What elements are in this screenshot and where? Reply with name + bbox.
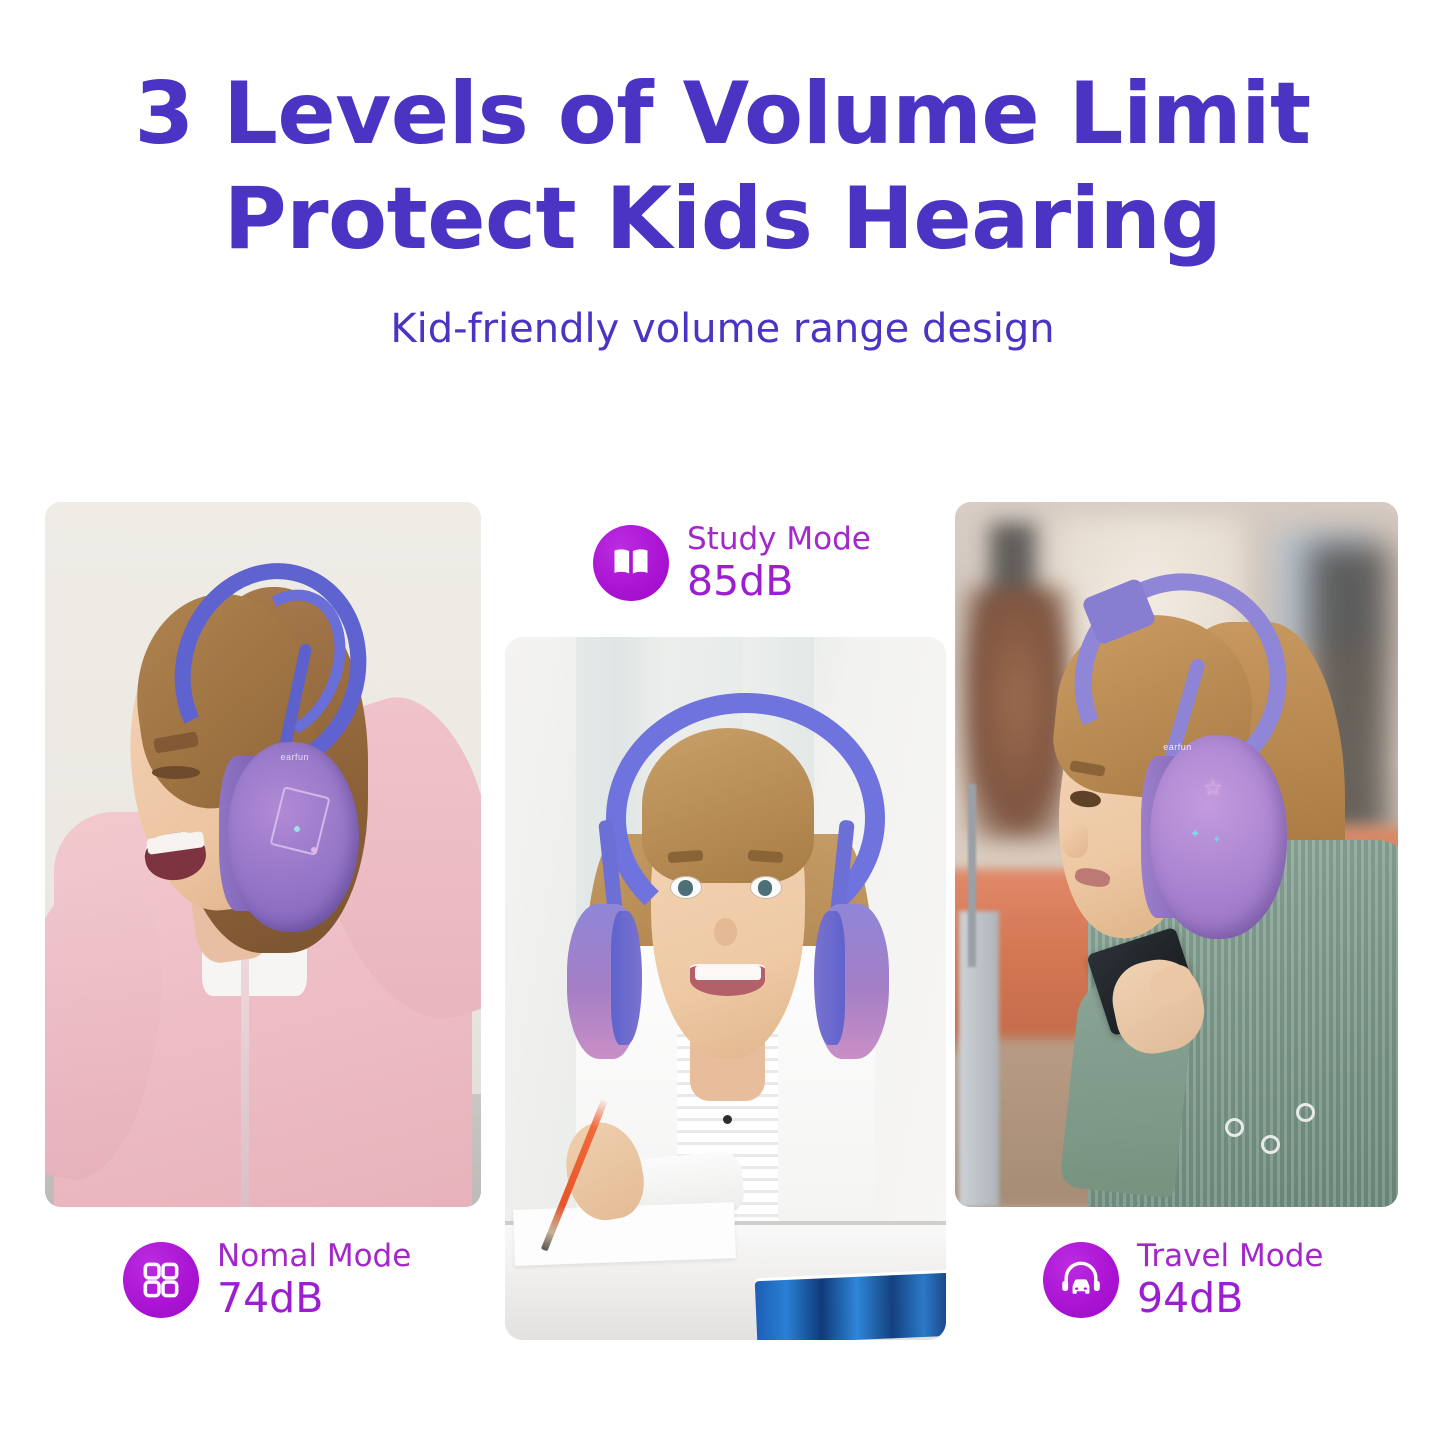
mode-badge-text: Nomal Mode 74dB — [217, 1240, 411, 1320]
headphone-earpad-left — [611, 911, 642, 1045]
mode-value: 74dB — [217, 1277, 411, 1320]
car-headphones-icon — [1043, 1242, 1119, 1318]
page-title: 3 Levels of Volume Limit Protect Kids He… — [0, 62, 1445, 272]
photo-study-mode — [505, 637, 946, 1340]
headline-block: 3 Levels of Volume Limit Protect Kids He… — [0, 62, 1445, 352]
mode-badge-normal: Nomal Mode 74dB — [123, 1240, 411, 1320]
mode-badge-study: Study Mode 85dB — [593, 523, 871, 603]
mode-badge-text: Travel Mode 94dB — [1137, 1240, 1323, 1320]
brand-logo-text: earfun — [1163, 742, 1192, 752]
mode-value: 85dB — [687, 560, 871, 603]
headline-line-2: Protect Kids Hearing — [0, 167, 1445, 272]
sweater-eyelet — [1225, 1118, 1244, 1137]
sweater-eyelet — [1261, 1135, 1280, 1154]
open-book-icon — [593, 525, 669, 601]
mode-title: Study Mode — [687, 523, 871, 556]
product-feature-poster: 3 Levels of Volume Limit Protect Kids He… — [0, 0, 1445, 1445]
photo-normal-mode: earfun — [45, 502, 481, 1207]
headline-line-1: 3 Levels of Volume Limit — [0, 62, 1445, 167]
earcup-star-graphic: ☆ — [1203, 777, 1223, 799]
mode-value: 94dB — [1137, 1277, 1323, 1320]
photo-travel-mode: ☆ ✦ ✦ earfun — [955, 502, 1398, 1207]
headphone-earpad-right — [814, 911, 845, 1045]
luggage-handle — [968, 784, 976, 967]
scene-girl-singing: earfun — [45, 502, 481, 1207]
mode-badge-travel: Travel Mode 94dB — [1043, 1240, 1323, 1320]
earcup-star-small: ✦ — [1190, 826, 1201, 842]
scene-girl-traveling: ☆ ✦ ✦ earfun — [955, 502, 1398, 1207]
mode-title: Nomal Mode — [217, 1240, 411, 1273]
earcup-star-small: ✦ — [1212, 833, 1221, 846]
nose — [1061, 823, 1088, 858]
grid-four-squares-icon — [123, 1242, 199, 1318]
blue-book — [755, 1273, 946, 1340]
scene-girl-studying — [505, 637, 946, 1340]
mode-title: Travel Mode — [1137, 1240, 1323, 1273]
mode-badge-text: Study Mode 85dB — [687, 523, 871, 603]
closed-eye — [152, 766, 200, 779]
teeth — [695, 966, 761, 980]
earcup-dot — [294, 826, 300, 832]
background-person — [964, 587, 1070, 841]
brand-logo-text: earfun — [280, 752, 309, 762]
luggage — [959, 911, 999, 1207]
subtitle: Kid-friendly volume range design — [0, 306, 1445, 352]
